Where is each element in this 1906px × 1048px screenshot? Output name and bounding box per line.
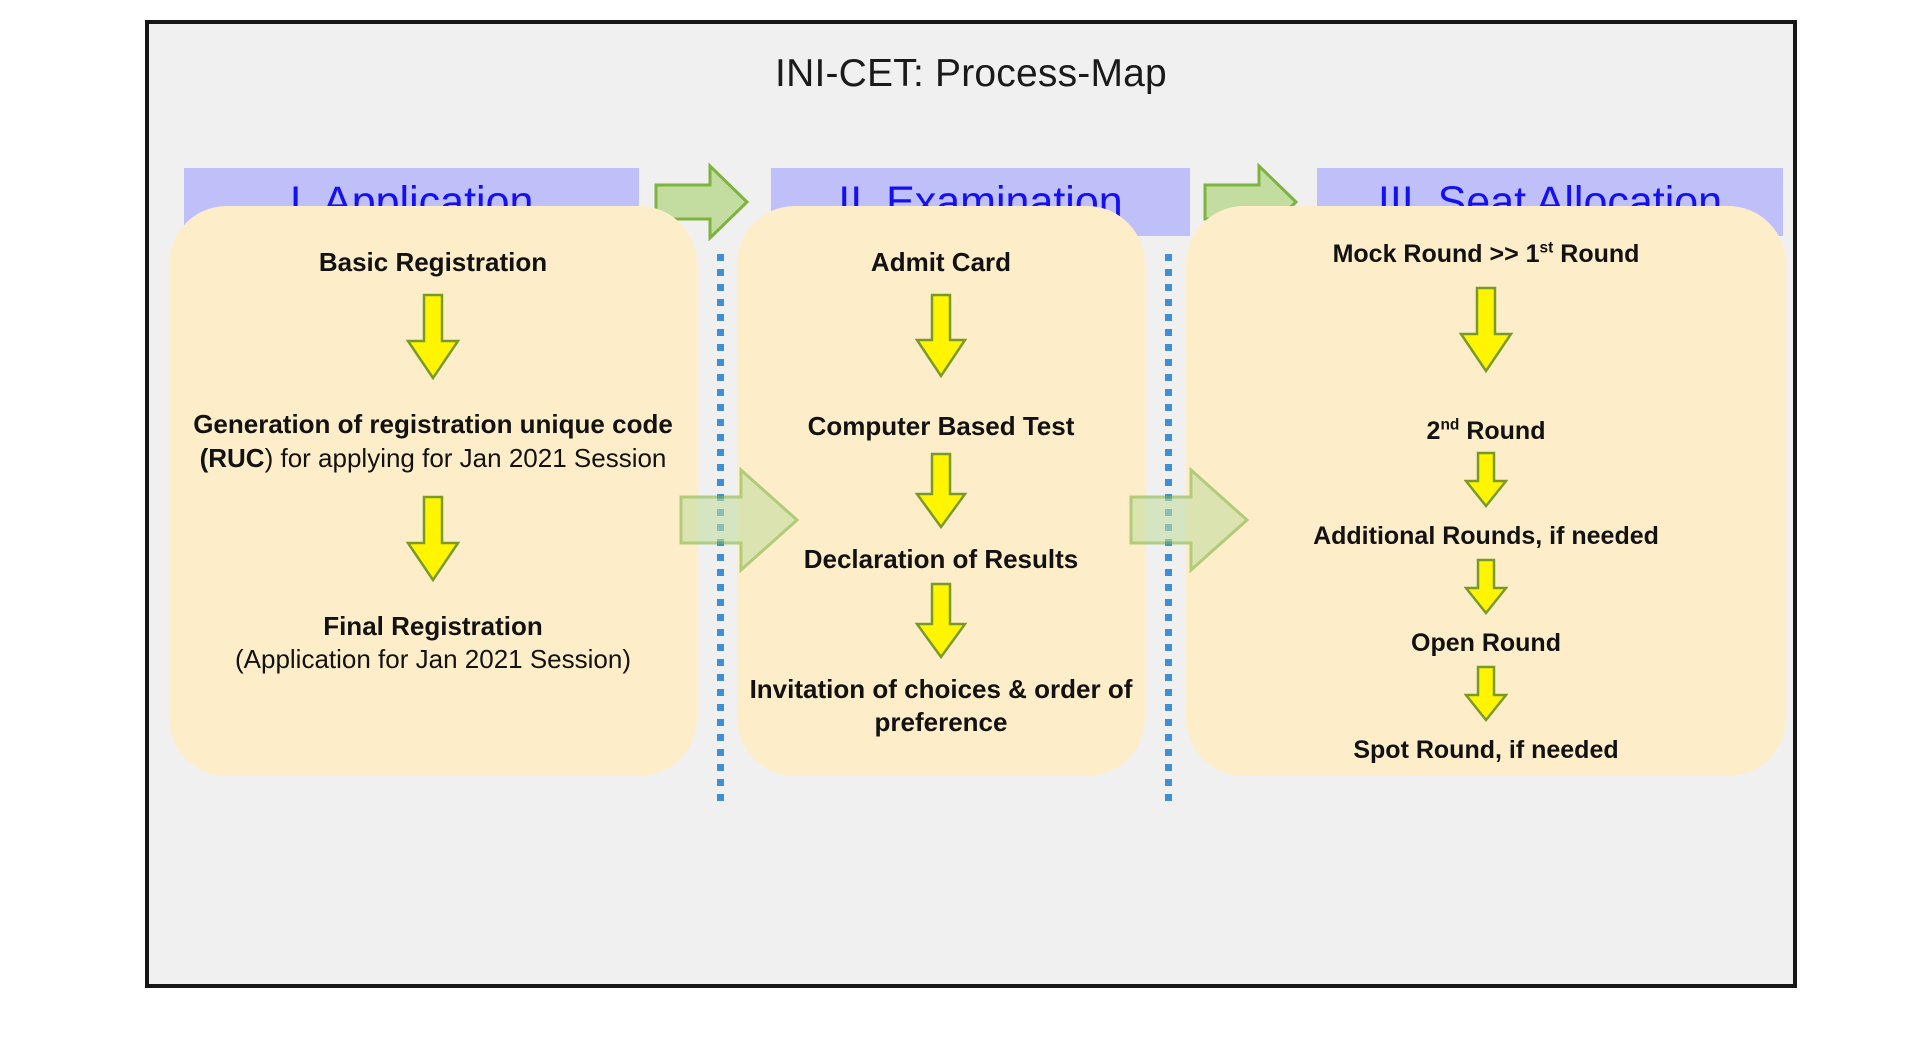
step-mock-post: Round xyxy=(1553,240,1639,268)
process-map-canvas: INI-CET: Process-Map I. Application II. … xyxy=(0,0,1906,1048)
slide-frame: INI-CET: Process-Map I. Application II. … xyxy=(145,20,1797,988)
step-computer-based-test: Computer Based Test xyxy=(745,410,1137,443)
step-second-round: 2nd Round xyxy=(1198,415,1774,447)
step-open-round: Open Round xyxy=(1198,627,1774,659)
panel-application: Basic Registration Generation of registr… xyxy=(169,206,697,776)
step-invitation-of-choices: Invitation of choices & order of prefere… xyxy=(745,673,1137,740)
step-basic-registration: Basic Registration xyxy=(180,246,687,279)
spacer xyxy=(1486,270,1487,286)
panel-transition-arrow-2-icon xyxy=(1129,467,1249,573)
flow-arrow-down-icon xyxy=(914,452,968,535)
spacer xyxy=(941,384,942,410)
step-declaration-of-results: Declaration of Results xyxy=(745,543,1137,576)
step-spot-round: Spot Round, if needed xyxy=(1198,734,1774,766)
step-ruc-regular: ) for applying for Jan 2021 Session xyxy=(265,443,667,473)
spacer xyxy=(941,665,942,673)
panel-seat-allocation: Mock Round >> 1st Round 2nd Round xyxy=(1186,206,1786,776)
step-final-bold: Final Registration xyxy=(323,611,543,641)
step-final-regular: (Application for Jan 2021 Session) xyxy=(235,644,631,674)
spacer xyxy=(433,386,434,408)
step-second-sup: nd xyxy=(1440,417,1459,434)
step-mock-and-first-round: Mock Round >> 1st Round xyxy=(1198,238,1774,270)
spacer xyxy=(941,279,942,293)
step-second-pre: 2 xyxy=(1427,417,1441,445)
spacer xyxy=(433,279,434,293)
spacer xyxy=(433,588,434,610)
panel-transition-arrow-1-icon xyxy=(679,467,799,573)
spacer xyxy=(941,535,942,543)
step-second-post: Round xyxy=(1459,417,1545,445)
step-ruc-generation: Generation of registration unique code (… xyxy=(180,408,687,475)
flow-arrow-down-icon xyxy=(914,293,968,384)
flow-arrow-down-icon xyxy=(405,293,461,386)
spacer xyxy=(1486,379,1487,415)
flow-arrow-down-icon xyxy=(1464,558,1508,621)
step-final-registration: Final Registration(Application for Jan 2… xyxy=(180,610,687,677)
spacer xyxy=(941,444,942,452)
page-title: INI-CET: Process-Map xyxy=(149,52,1793,96)
flow-arrow-down-icon xyxy=(1458,286,1514,379)
step-mock-pre: Mock Round >> 1 xyxy=(1333,240,1540,268)
step-admit-card: Admit Card xyxy=(745,246,1137,279)
spacer xyxy=(433,475,434,495)
flow-arrow-down-icon xyxy=(405,495,461,588)
flow-arrow-down-icon xyxy=(914,582,968,665)
step-additional-rounds: Additional Rounds, if needed xyxy=(1198,520,1774,552)
flow-arrow-down-icon xyxy=(1464,451,1508,514)
step-mock-sup: st xyxy=(1540,240,1554,257)
flow-arrow-down-icon xyxy=(1464,665,1508,728)
